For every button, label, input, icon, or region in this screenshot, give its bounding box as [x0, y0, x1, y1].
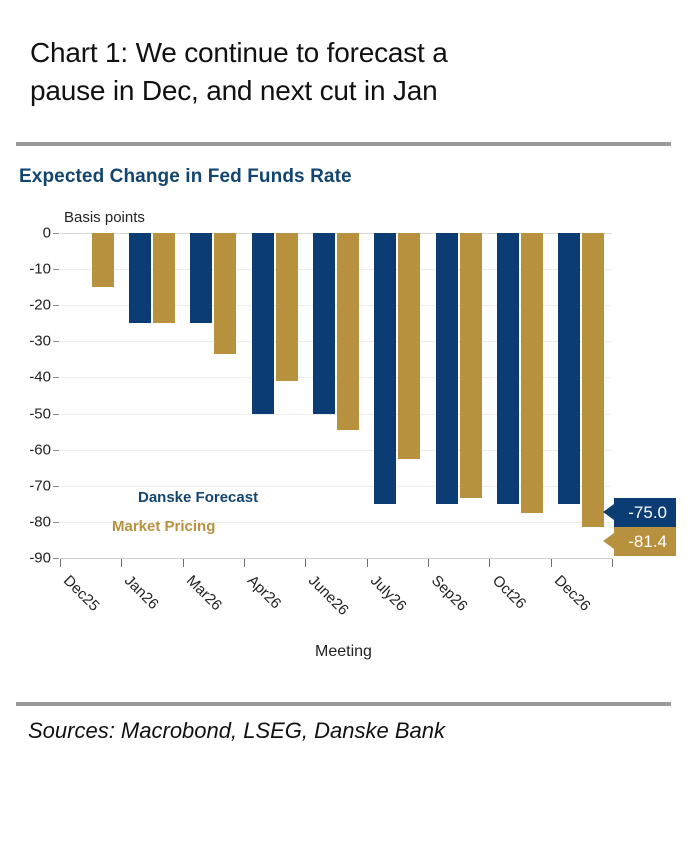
- y-axis-tick-label: 0: [43, 225, 51, 242]
- bar-sep26-danske: [436, 233, 458, 504]
- legend-label-danske-forecast: Danske Forecast: [138, 489, 258, 506]
- units-note: Basis points: [64, 209, 145, 226]
- bar-dec26-danske: [558, 233, 580, 504]
- x-axis-tick: [489, 559, 490, 567]
- divider-bottom: [16, 702, 671, 706]
- legend-label-market-pricing: Market Pricing: [112, 518, 215, 535]
- title-line-1: Chart 1: We continue to forecast a: [30, 34, 650, 72]
- y-axis-tick-label: -30: [29, 333, 51, 350]
- x-axis-tick: [551, 559, 552, 567]
- x-axis-category-label: Apr26: [244, 572, 284, 612]
- x-axis-category-label: Jan26: [121, 572, 162, 613]
- x-axis-category-label: Dec25: [60, 572, 103, 615]
- value-callout-market: -81.4: [614, 527, 676, 556]
- chart-title: Expected Change in Fed Funds Rate: [19, 166, 352, 188]
- chart-page: Chart 1: We continue to forecast a pause…: [0, 0, 687, 844]
- bar-jan26-danske: [129, 233, 151, 323]
- y-axis-tick: [53, 450, 59, 451]
- x-axis-tick: [60, 559, 61, 567]
- x-axis-title: Meeting: [0, 643, 687, 661]
- callout-value: -81.4: [628, 532, 667, 551]
- x-axis-tick: [428, 559, 429, 567]
- x-axis-category-label: Sep26: [428, 572, 471, 615]
- y-axis-tick: [53, 558, 59, 559]
- bar-july26-danske: [374, 233, 396, 504]
- y-axis-tick-label: -40: [29, 369, 51, 386]
- plot-area: Basis points 0-10-20-30-40-50-60-70-80-9…: [60, 233, 612, 558]
- callout-arrow-icon: [603, 504, 614, 520]
- x-axis-category-label: July26: [367, 572, 410, 615]
- x-axis-line: [60, 558, 612, 559]
- bar-apr26-market: [276, 233, 298, 381]
- y-axis-tick-label: -50: [29, 405, 51, 422]
- bar-oct26-danske: [497, 233, 519, 504]
- bar-mar26-market: [214, 233, 236, 354]
- x-axis-tick: [305, 559, 306, 567]
- y-axis-tick-label: -10: [29, 261, 51, 278]
- divider-top: [16, 142, 671, 146]
- sources-note: Sources: Macrobond, LSEG, Danske Bank: [28, 718, 445, 744]
- y-axis-tick-label: -80: [29, 513, 51, 530]
- x-axis-category-label: June26: [305, 572, 352, 619]
- y-axis-tick: [53, 486, 59, 487]
- x-axis-tick: [183, 559, 184, 567]
- bar-dec25-market: [92, 233, 114, 287]
- bar-sep26-market: [460, 233, 482, 498]
- bar-oct26-market: [521, 233, 543, 513]
- title-line-2: pause in Dec, and next cut in Jan: [30, 72, 650, 110]
- x-axis-category-label: Oct26: [489, 572, 529, 612]
- x-axis-category-label: Dec26: [551, 572, 594, 615]
- y-axis-tick-label: -90: [29, 550, 51, 567]
- y-axis-tick: [53, 522, 59, 523]
- y-axis-tick-label: -70: [29, 477, 51, 494]
- y-axis-tick: [53, 305, 59, 306]
- y-axis-tick: [53, 414, 59, 415]
- value-callout-danske: -75.0: [614, 498, 676, 527]
- callout-value: -75.0: [628, 503, 667, 522]
- y-axis-tick-label: -60: [29, 441, 51, 458]
- bar-dec26-market: [582, 233, 604, 527]
- y-axis-tick: [53, 269, 59, 270]
- bar-jan26-market: [153, 233, 175, 323]
- y-axis-tick: [53, 341, 59, 342]
- x-axis-tick: [244, 559, 245, 567]
- bar-july26-market: [398, 233, 420, 459]
- y-axis-tick: [53, 233, 59, 234]
- page-title: Chart 1: We continue to forecast a pause…: [30, 34, 650, 110]
- y-axis-tick-label: -20: [29, 297, 51, 314]
- bar-june26-market: [337, 233, 359, 430]
- x-axis-tick: [367, 559, 368, 567]
- y-axis-tick: [53, 377, 59, 378]
- x-axis-category-label: Mar26: [183, 572, 225, 614]
- bar-apr26-danske: [252, 233, 274, 414]
- bar-chart: Basis points 0-10-20-30-40-50-60-70-80-9…: [0, 200, 687, 670]
- x-axis-tick: [121, 559, 122, 567]
- bar-mar26-danske: [190, 233, 212, 323]
- bar-june26-danske: [313, 233, 335, 414]
- x-axis-tick: [612, 559, 613, 567]
- callout-arrow-icon: [603, 533, 614, 549]
